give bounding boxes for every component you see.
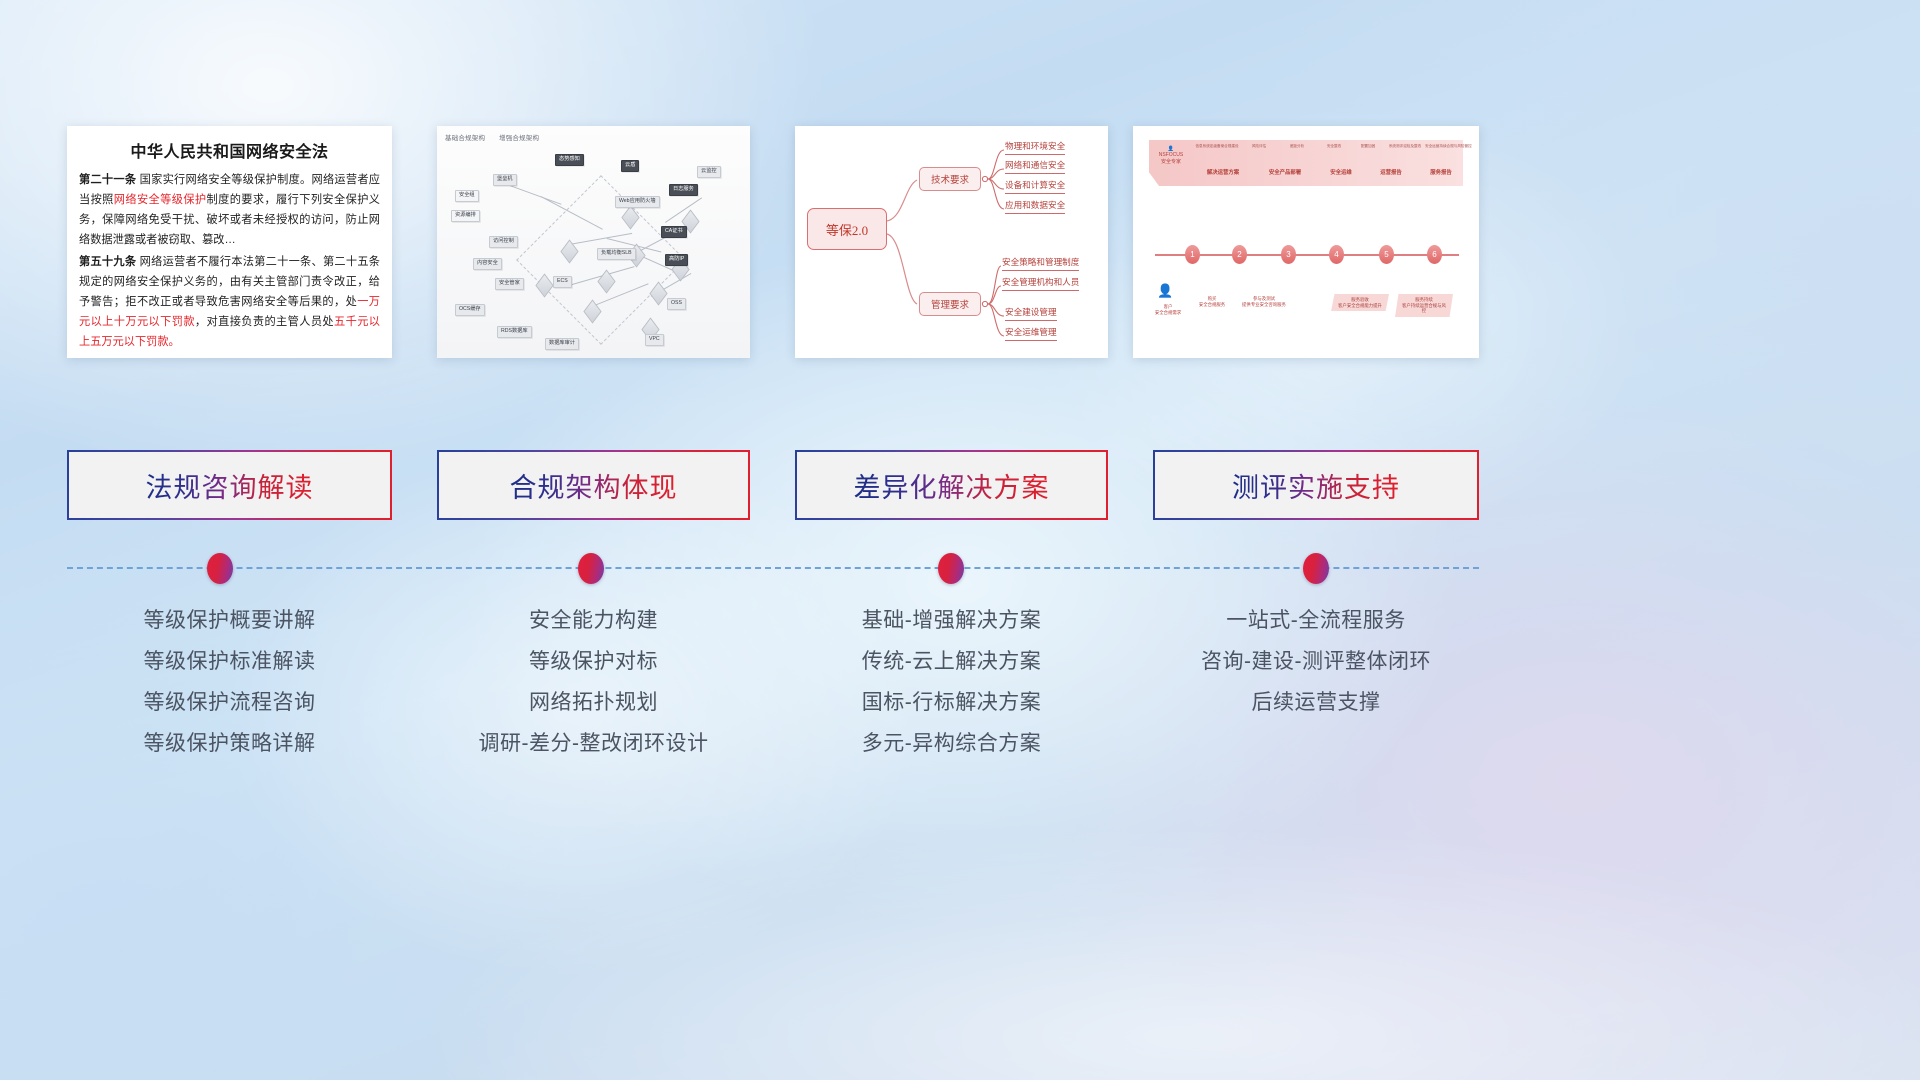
mindmap-branch-management: 管理要求 [919, 292, 981, 316]
arch-node: 安全组 [455, 190, 479, 202]
nsfocus-right-chip: 服务验收 客户安全合规能力提升 [1331, 294, 1389, 311]
service-list-row: 等级保护概要讲解 等级保护标准解读 等级保护流程咨询 等级保护策略详解 安全能力… [0, 600, 1920, 810]
card-nsfocus-timeline[interactable]: 👤 NSFOCUS 安全专家 信息系统定级备案合规建设 风险评估 差距分析 安全… [1133, 126, 1479, 358]
nsfocus-right-chip-label: 服务持续 [1415, 297, 1433, 302]
arch-node: 访问控制 [489, 236, 518, 248]
nsfocus-left-tag-sub: 安全合规需求 [1155, 310, 1181, 315]
card-mindmap-dengbao[interactable]: 等保2.0 技术要求 管理要求 物理和环境安全 网络和通信安全 设备和计算安全 … [795, 126, 1108, 358]
nsfocus-left-tag: 参与及测试 提供专业安全咨询服务 [1237, 296, 1291, 307]
nsfocus-top-item: 风险评估 [1241, 144, 1277, 148]
timeline-dashed-line [67, 567, 1479, 569]
nsfocus-left-tag: 购买 安全合规服务 [1191, 296, 1233, 307]
mindmap-leaf: 安全管理机构和人员 [1002, 276, 1079, 291]
list-item: 等级保护概要讲解 [67, 600, 392, 641]
nsfocus-right-chip: 服务持续 客户持续运营合规与风控 [1395, 294, 1453, 317]
label-box-text: 合规架构体现 [510, 466, 678, 505]
arch-node: 数据库审计 [545, 338, 579, 350]
nsfocus-right-chip-sub: 客户持续运营合规与风控 [1402, 303, 1446, 314]
arch-node: 云监控 [697, 166, 721, 178]
arch-node: RDS数据库 [497, 326, 532, 338]
nsfocus-mid-item: 运营报告 [1369, 168, 1413, 176]
label-box-text: 测评实施支持 [1232, 466, 1400, 505]
timeline-dot-3[interactable] [938, 553, 964, 584]
card-cybersecurity-law[interactable]: 中华人民共和国网络安全法 第二十一条 国家实行网络安全等级保护制度。网络运营者应… [67, 126, 392, 358]
list-item: 一站式-全流程服务 [1153, 600, 1479, 641]
label-box-text: 差异化解决方案 [854, 466, 1050, 505]
list-item: 基础-增强解决方案 [795, 600, 1108, 641]
service-list-compliance-architecture: 安全能力构建 等级保护对标 网络拓扑规划 调研-差分-整改闭环设计 [437, 600, 750, 764]
nsfocus-step: 2 [1232, 245, 1247, 264]
list-item: 等级保护流程咨询 [67, 682, 392, 723]
timeline-dot-1[interactable] [207, 553, 233, 584]
list-item: 网络拓扑规划 [437, 682, 750, 723]
nsfocus-top-item: 配置加固 [1351, 144, 1385, 148]
arch-node: 内容安全 [473, 258, 502, 270]
arch-node: 堡垒机 [493, 174, 517, 186]
nsfocus-step: 3 [1281, 245, 1296, 264]
arch-node: 态势感知 [555, 154, 584, 166]
arch-node: CA证书 [661, 226, 687, 238]
nsfocus-mid-item: 安全运维 [1319, 168, 1363, 176]
arch-zone-outline [516, 175, 686, 345]
arch-node: 负载均衡SLB [597, 248, 636, 260]
mindmap-leaf: 应用和数据安全 [1005, 199, 1065, 214]
nsfocus-step: 5 [1379, 245, 1394, 264]
law-article-number: 第二十一条 [79, 174, 136, 186]
law-text-segment: ，对直接负责的主管人员处 [195, 316, 334, 328]
nsfocus-mid-item: 服务报告 [1419, 168, 1463, 176]
nsfocus-top-item: 差距分析 [1279, 144, 1315, 148]
list-item: 后续运营支撑 [1153, 682, 1479, 723]
arch-header-basic: 基础合规架构 [445, 132, 485, 142]
arch-node: 高防IP [665, 254, 688, 266]
nsfocus-right-chip-sub: 客户安全合规能力提升 [1338, 303, 1382, 308]
arch-header-enhanced: 增强合规架构 [499, 132, 539, 142]
arch-node: OCS缓存 [455, 304, 485, 316]
list-item: 多元-异构综合方案 [795, 723, 1108, 764]
nsfocus-left-tag-sub: 安全合规服务 [1199, 302, 1225, 307]
nsfocus-mid-item: 安全产品部署 [1257, 168, 1313, 176]
label-box-row: 法规咨询解读 合规架构体现 差异化解决方案 测评实施支持 [0, 450, 1920, 520]
timeline-dot-2[interactable] [578, 553, 604, 584]
nsfocus-left-tag-label: 客户 [1164, 304, 1173, 309]
nsfocus-step: 4 [1329, 245, 1344, 264]
law-paragraph: 第五十九条 网络运营者不履行本法第二十一条、第二十五条规定的网络安全保护义务的，… [79, 253, 380, 353]
nsfocus-step: 1 [1185, 245, 1200, 264]
nsfocus-left-tag-label: 参与及测试 [1253, 296, 1275, 301]
arch-node: 日志服务 [669, 184, 698, 196]
mindmap-leaf: 网络和通信安全 [1005, 159, 1065, 174]
nsfocus-brand-badge: 👤 NSFOCUS 安全专家 [1151, 146, 1191, 165]
nsfocus-axis-line [1155, 254, 1459, 256]
mindmap-root-node: 等保2.0 [807, 208, 887, 250]
nsfocus-top-item: 系统测评迎检及整改 [1385, 144, 1425, 148]
list-item: 安全能力构建 [437, 600, 750, 641]
nsfocus-brand-sub: 安全专家 [1151, 159, 1191, 165]
architecture-diagram: 基础合规架构 增强合规架构 态势感 [437, 126, 750, 358]
arch-connector [507, 184, 562, 204]
nsfocus-diagram: 👤 NSFOCUS 安全专家 信息系统定级备案合规建设 风险评估 差距分析 安全… [1133, 126, 1479, 358]
list-item: 国标-行标解决方案 [795, 682, 1108, 723]
nsfocus-top-item: 信息系统定级备案合规建设 [1195, 144, 1239, 148]
list-item: 传统-云上解决方案 [795, 641, 1108, 682]
label-box-regulation-consulting[interactable]: 法规咨询解读 [67, 450, 392, 520]
label-box-evaluation-support[interactable]: 测评实施支持 [1153, 450, 1479, 520]
nsfocus-top-item: 安全整改 [1317, 144, 1351, 148]
nsfocus-customer-icon: 👤 [1157, 284, 1173, 297]
label-box-text: 法规咨询解读 [146, 466, 314, 505]
mindmap-leaf: 安全策略和管理制度 [1002, 256, 1079, 271]
thumbnail-card-row: 中华人民共和国网络安全法 第二十一条 国家实行网络安全等级保护制度。网络运营者应… [0, 126, 1920, 358]
nsfocus-left-tag-sub: 提供专业安全咨询服务 [1242, 302, 1286, 307]
nsfocus-top-item: 安全运营持续合规与风险管控 [1425, 144, 1469, 148]
list-item: 调研-差分-整改闭环设计 [437, 723, 750, 764]
law-article-number: 第五十九条 [79, 256, 136, 268]
card-cloud-architecture[interactable]: 基础合规架构 增强合规架构 态势感 [437, 126, 750, 358]
law-text-highlight: 网络安全等级保护 [114, 194, 207, 206]
nsfocus-right-chip-label: 服务验收 [1351, 297, 1369, 302]
nsfocus-left-tag-label: 购买 [1208, 296, 1217, 301]
label-box-differentiated-solution[interactable]: 差异化解决方案 [795, 450, 1108, 520]
arch-node: VPC [645, 334, 664, 346]
service-list-regulation-consulting: 等级保护概要讲解 等级保护标准解读 等级保护流程咨询 等级保护策略详解 [67, 600, 392, 764]
arch-node: ECS [553, 276, 572, 288]
list-item: 等级保护对标 [437, 641, 750, 682]
mindmap-branch-technical: 技术要求 [919, 167, 981, 191]
law-paragraph: 第二十一条 国家实行网络安全等级保护制度。网络运营者应当按照网络安全等级保护制度… [79, 171, 380, 251]
law-body: 第二十一条 国家实行网络安全等级保护制度。网络运营者应当按照网络安全等级保护制度… [67, 162, 392, 352]
mindmap-leaf: 安全建设管理 [1005, 306, 1057, 321]
service-list-differentiated-solution: 基础-增强解决方案 传统-云上解决方案 国标-行标解决方案 多元-异构综合方案 [795, 600, 1108, 764]
nsfocus-step: 6 [1427, 245, 1442, 264]
arch-node: 资源编排 [451, 210, 480, 222]
label-box-compliance-architecture[interactable]: 合规架构体现 [437, 450, 750, 520]
mindmap-leaf: 安全运维管理 [1005, 326, 1057, 341]
arch-node: 云盾 [621, 160, 639, 172]
list-item: 等级保护策略详解 [67, 723, 392, 764]
nsfocus-mid-item: 解决运营方案 [1195, 168, 1251, 176]
arch-node: OSS [667, 298, 686, 310]
service-list-evaluation-support: 一站式-全流程服务 咨询-建设-测评整体闭环 后续运营支撑 [1153, 600, 1479, 723]
mindmap-leaf: 物理和环境安全 [1005, 140, 1065, 155]
mindmap-leaf: 设备和计算安全 [1005, 179, 1065, 194]
nsfocus-left-tag: 客户 安全合规需求 [1147, 304, 1189, 315]
list-item: 等级保护标准解读 [67, 641, 392, 682]
timeline [0, 545, 1920, 595]
arch-node: Web应用防火墙 [615, 196, 660, 208]
arch-node: 安全管家 [495, 278, 524, 290]
law-title: 中华人民共和国网络安全法 [67, 126, 392, 162]
list-item: 咨询-建设-测评整体闭环 [1153, 641, 1479, 682]
mindmap-diagram: 等保2.0 技术要求 管理要求 物理和环境安全 网络和通信安全 设备和计算安全 … [795, 126, 1108, 358]
timeline-dot-4[interactable] [1303, 553, 1329, 584]
